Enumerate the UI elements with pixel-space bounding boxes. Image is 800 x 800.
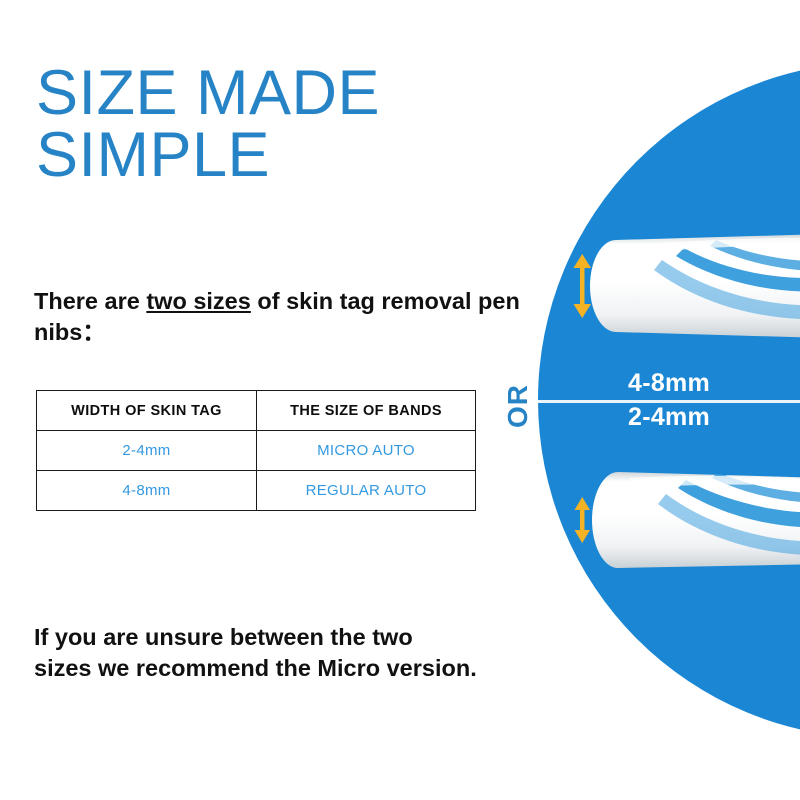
page-title: SIZE MADE SIMPLE [36,62,506,187]
micro-auto-pen-illustration [566,464,800,576]
nib-size-arrow-icon [574,254,592,318]
recommendation-note-line-2: sizes we recommend the Micro version. [34,653,504,684]
infographic-canvas: SIZE MADE SIMPLE There are two sizes of … [0,0,800,800]
intro-paragraph: There are two sizes of skin tag removal … [34,286,534,349]
table-row: 4-8mm REGULAR AUTO [37,471,476,511]
size-chart-table: WIDTH OF SKIN TAG THE SIZE OF BANDS 2-4m… [36,390,476,511]
page-title-line-1: SIZE MADE [36,62,506,124]
recommendation-note: If you are unsure between the two sizes … [34,622,504,685]
regular-auto-pen-illustration [566,230,800,342]
table-row: 2-4mm MICRO AUTO [37,431,476,471]
or-separator-label: OR [493,383,543,429]
nib-size-arrow-icon [575,497,591,543]
table-header-row: WIDTH OF SKIN TAG THE SIZE OF BANDS [37,391,476,431]
cell-band-size-2: REGULAR AUTO [257,471,476,511]
table-header-size-of-bands: THE SIZE OF BANDS [257,391,476,431]
size-label-micro: 2-4mm [628,403,710,432]
intro-text-before: There are [34,288,146,314]
page-title-line-2: SIMPLE [36,124,506,186]
table-header-width-of-skin-tag: WIDTH OF SKIN TAG [37,391,257,431]
cell-skin-tag-width-1: 2-4mm [37,431,257,471]
intro-emphasis-two-sizes: two sizes [146,288,250,314]
recommendation-note-line-1: If you are unsure between the two [34,622,504,653]
cell-skin-tag-width-2: 4-8mm [37,471,257,511]
cell-band-size-1: MICRO AUTO [257,431,476,471]
size-label-regular: 4-8mm [628,369,710,398]
